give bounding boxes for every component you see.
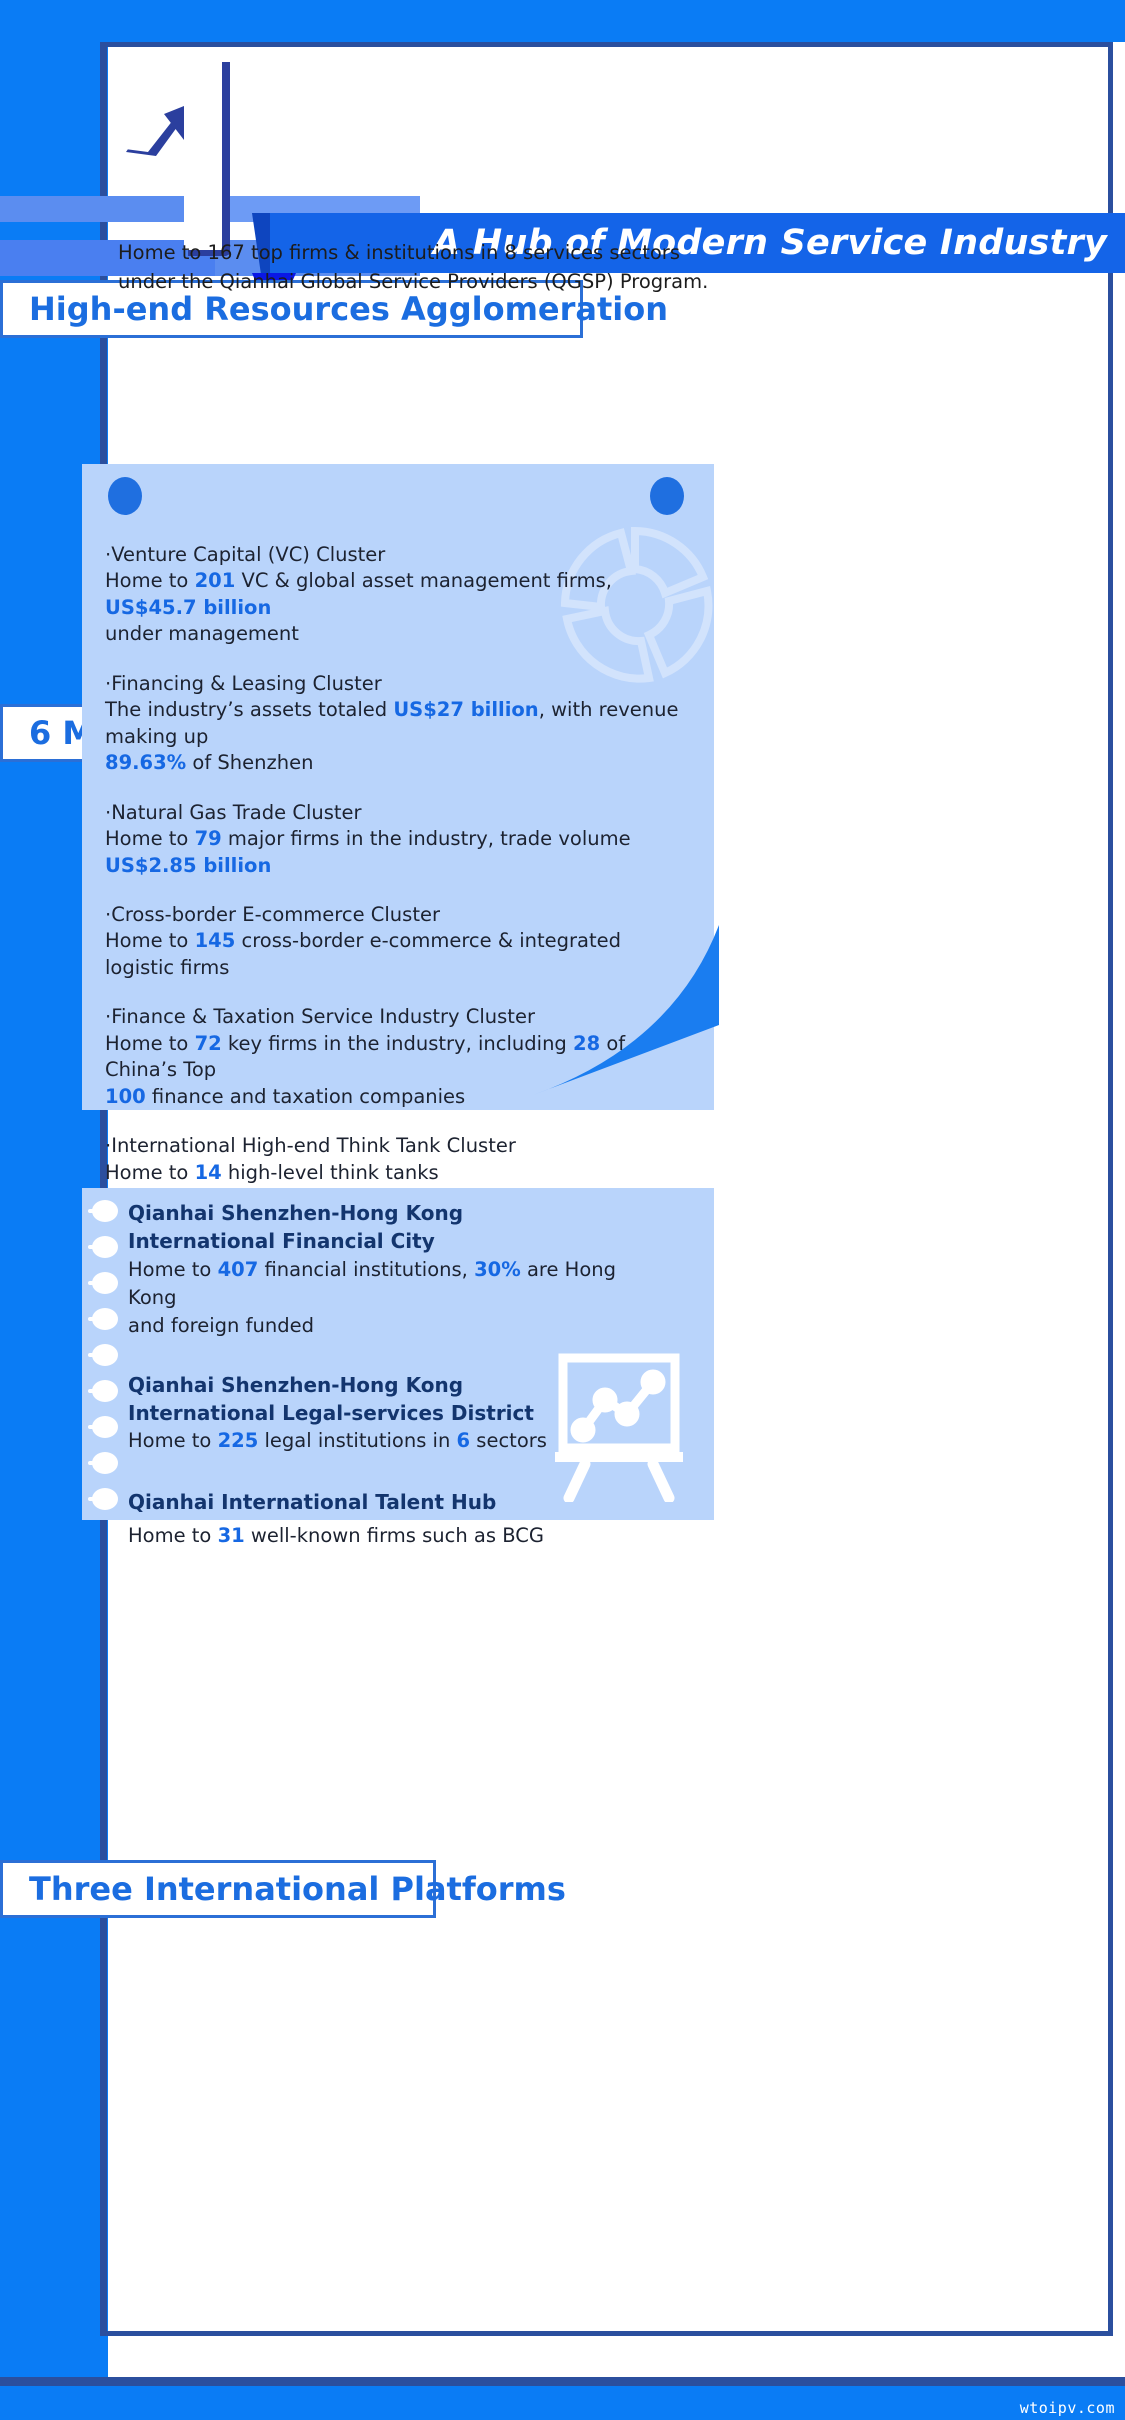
clusters-dot-right [650, 477, 684, 515]
platform-detail: Home to 407 financial institutions, 30% … [128, 1256, 648, 1313]
cluster-item: ·International High-end Think Tank Clust… [105, 1133, 690, 1186]
spiral-binding-rings [88, 1196, 122, 1514]
cluster-item: ·Natural Gas Trade Cluster Home to 79 ma… [105, 800, 690, 879]
cluster-title: ·International High-end Think Tank Clust… [105, 1133, 690, 1159]
platform-text: Home to [128, 1524, 218, 1547]
cluster-text: The industry’s assets totaled [105, 698, 393, 721]
platforms-list: Qianhai Shenzhen-Hong Kong International… [128, 1199, 648, 1572]
cluster-detail-2: 89.63% of Shenzhen [105, 750, 690, 777]
platform-name-line-1: Qianhai Shenzhen-Hong Kong [128, 1371, 648, 1399]
cluster-title: ·Natural Gas Trade Cluster [105, 800, 690, 826]
infographic-page: A Hub of Modern Service Industry High-en… [0, 0, 1125, 2420]
cluster-highlight: US$27 billion [393, 698, 538, 721]
binding-ring-stem [88, 1461, 100, 1465]
cluster-highlight: 100 [105, 1085, 146, 1108]
binding-ring-stem [88, 1209, 100, 1213]
cluster-title: ·Venture Capital (VC) Cluster [105, 542, 690, 568]
platform-name-line-1: Qianhai International Talent Hub [128, 1488, 648, 1516]
platform-item: Qianhai Shenzhen-Hong Kong International… [128, 1371, 648, 1456]
platform-text: well-known firms such as BCG [245, 1524, 544, 1547]
cluster-detail: Home to 72 key firms in the industry, in… [105, 1031, 690, 1084]
section-header-three-platforms: Three International Platforms [0, 1860, 436, 1918]
cluster-detail: Home to 145 cross-border e-commerce & in… [105, 928, 690, 981]
cluster-highlight: 28 [573, 1032, 600, 1055]
cluster-text: finance and taxation companies [146, 1085, 466, 1108]
cluster-item: ·Financing & Leasing Cluster The industr… [105, 671, 690, 777]
site-watermark: wtoipv.com [1020, 2399, 1115, 2417]
platform-highlight: 407 [218, 1258, 259, 1281]
cluster-detail-2: under management [105, 621, 690, 648]
clusters-dot-left [108, 477, 142, 515]
intro-paragraph: Home to 167 top firms & institutions in … [118, 238, 718, 297]
cluster-highlight: US$2.85 billion [105, 854, 271, 877]
cluster-title: ·Cross-border E-commerce Cluster [105, 902, 690, 928]
cluster-text: VC & global asset management firms, [235, 569, 612, 592]
cluster-item: ·Venture Capital (VC) Cluster Home to 20… [105, 542, 690, 648]
platform-highlight: 225 [218, 1429, 259, 1452]
platform-highlight: 31 [218, 1524, 245, 1547]
binding-ring-stem [88, 1317, 100, 1321]
cluster-highlight: 89.63% [105, 751, 186, 774]
cluster-item: ·Cross-border E-commerce Cluster Home to… [105, 902, 690, 981]
section-header-3-label: Three International Platforms [3, 1870, 566, 1908]
cluster-highlight: 14 [195, 1161, 222, 1184]
cluster-detail: The industry’s assets totaled US$27 bill… [105, 697, 690, 750]
platform-name-line-2: International Financial City [128, 1227, 648, 1255]
platform-name-line-1: Qianhai Shenzhen-Hong Kong [128, 1199, 648, 1227]
cluster-text: key firms in the industry, including [222, 1032, 573, 1055]
cluster-detail: Home to 201 VC & global asset management… [105, 568, 690, 621]
cluster-item: ·Finance & Taxation Service Industry Clu… [105, 1004, 690, 1110]
platform-text: sectors [470, 1429, 547, 1452]
platform-text: legal institutions in [258, 1429, 456, 1452]
cluster-title: ·Financing & Leasing Cluster [105, 671, 690, 697]
platform-detail-2: and foreign funded [128, 1312, 648, 1340]
platform-highlight: 30% [474, 1258, 521, 1281]
footer-blue-bar [0, 2386, 1125, 2420]
cluster-highlight: 79 [195, 827, 222, 850]
binding-ring-stem [88, 1353, 100, 1357]
platform-text: Home to [128, 1258, 218, 1281]
cluster-highlight: US$45.7 billion [105, 596, 271, 619]
cluster-text: high-level think tanks [222, 1161, 439, 1184]
cluster-detail-2: 100 finance and taxation companies [105, 1084, 690, 1111]
binding-ring-stem [88, 1425, 100, 1429]
platform-item: Qianhai International Talent Hub Home to… [128, 1488, 648, 1551]
cluster-text: Home to [105, 929, 195, 952]
platform-detail: Home to 31 well-known firms such as BCG [128, 1522, 648, 1550]
platform-text: Home to [128, 1429, 218, 1452]
top-blue-bar [0, 0, 1125, 42]
binding-ring-stem [88, 1389, 100, 1393]
cluster-highlight: 201 [195, 569, 236, 592]
cluster-title: ·Finance & Taxation Service Industry Clu… [105, 1004, 690, 1030]
binding-ring-stem [88, 1497, 100, 1501]
platform-text: financial institutions, [258, 1258, 474, 1281]
platform-detail: Home to 225 legal institutions in 6 sect… [128, 1427, 648, 1455]
clusters-list: ·Venture Capital (VC) Cluster Home to 20… [105, 542, 690, 1292]
cluster-text: major firms in the industry, trade volum… [222, 827, 631, 850]
platform-item: Qianhai Shenzhen-Hong Kong International… [128, 1199, 648, 1341]
platform-highlight: 6 [457, 1429, 471, 1452]
cluster-text: Home to [105, 569, 195, 592]
cluster-detail: Home to 14 high-level think tanks [105, 1160, 690, 1187]
cluster-text: of Shenzhen [186, 751, 313, 774]
cluster-highlight: 72 [195, 1032, 222, 1055]
cluster-detail: Home to 79 major firms in the industry, … [105, 826, 690, 879]
platform-name-line-2: International Legal-services District [128, 1399, 648, 1427]
cluster-text: Home to [105, 1032, 195, 1055]
footer-dark-bar [0, 2377, 1125, 2386]
cluster-text: Home to [105, 1161, 195, 1184]
cluster-text: Home to [105, 827, 195, 850]
binding-ring-stem [88, 1245, 100, 1249]
binding-ring-stem [88, 1281, 100, 1285]
cluster-highlight: 145 [195, 929, 236, 952]
